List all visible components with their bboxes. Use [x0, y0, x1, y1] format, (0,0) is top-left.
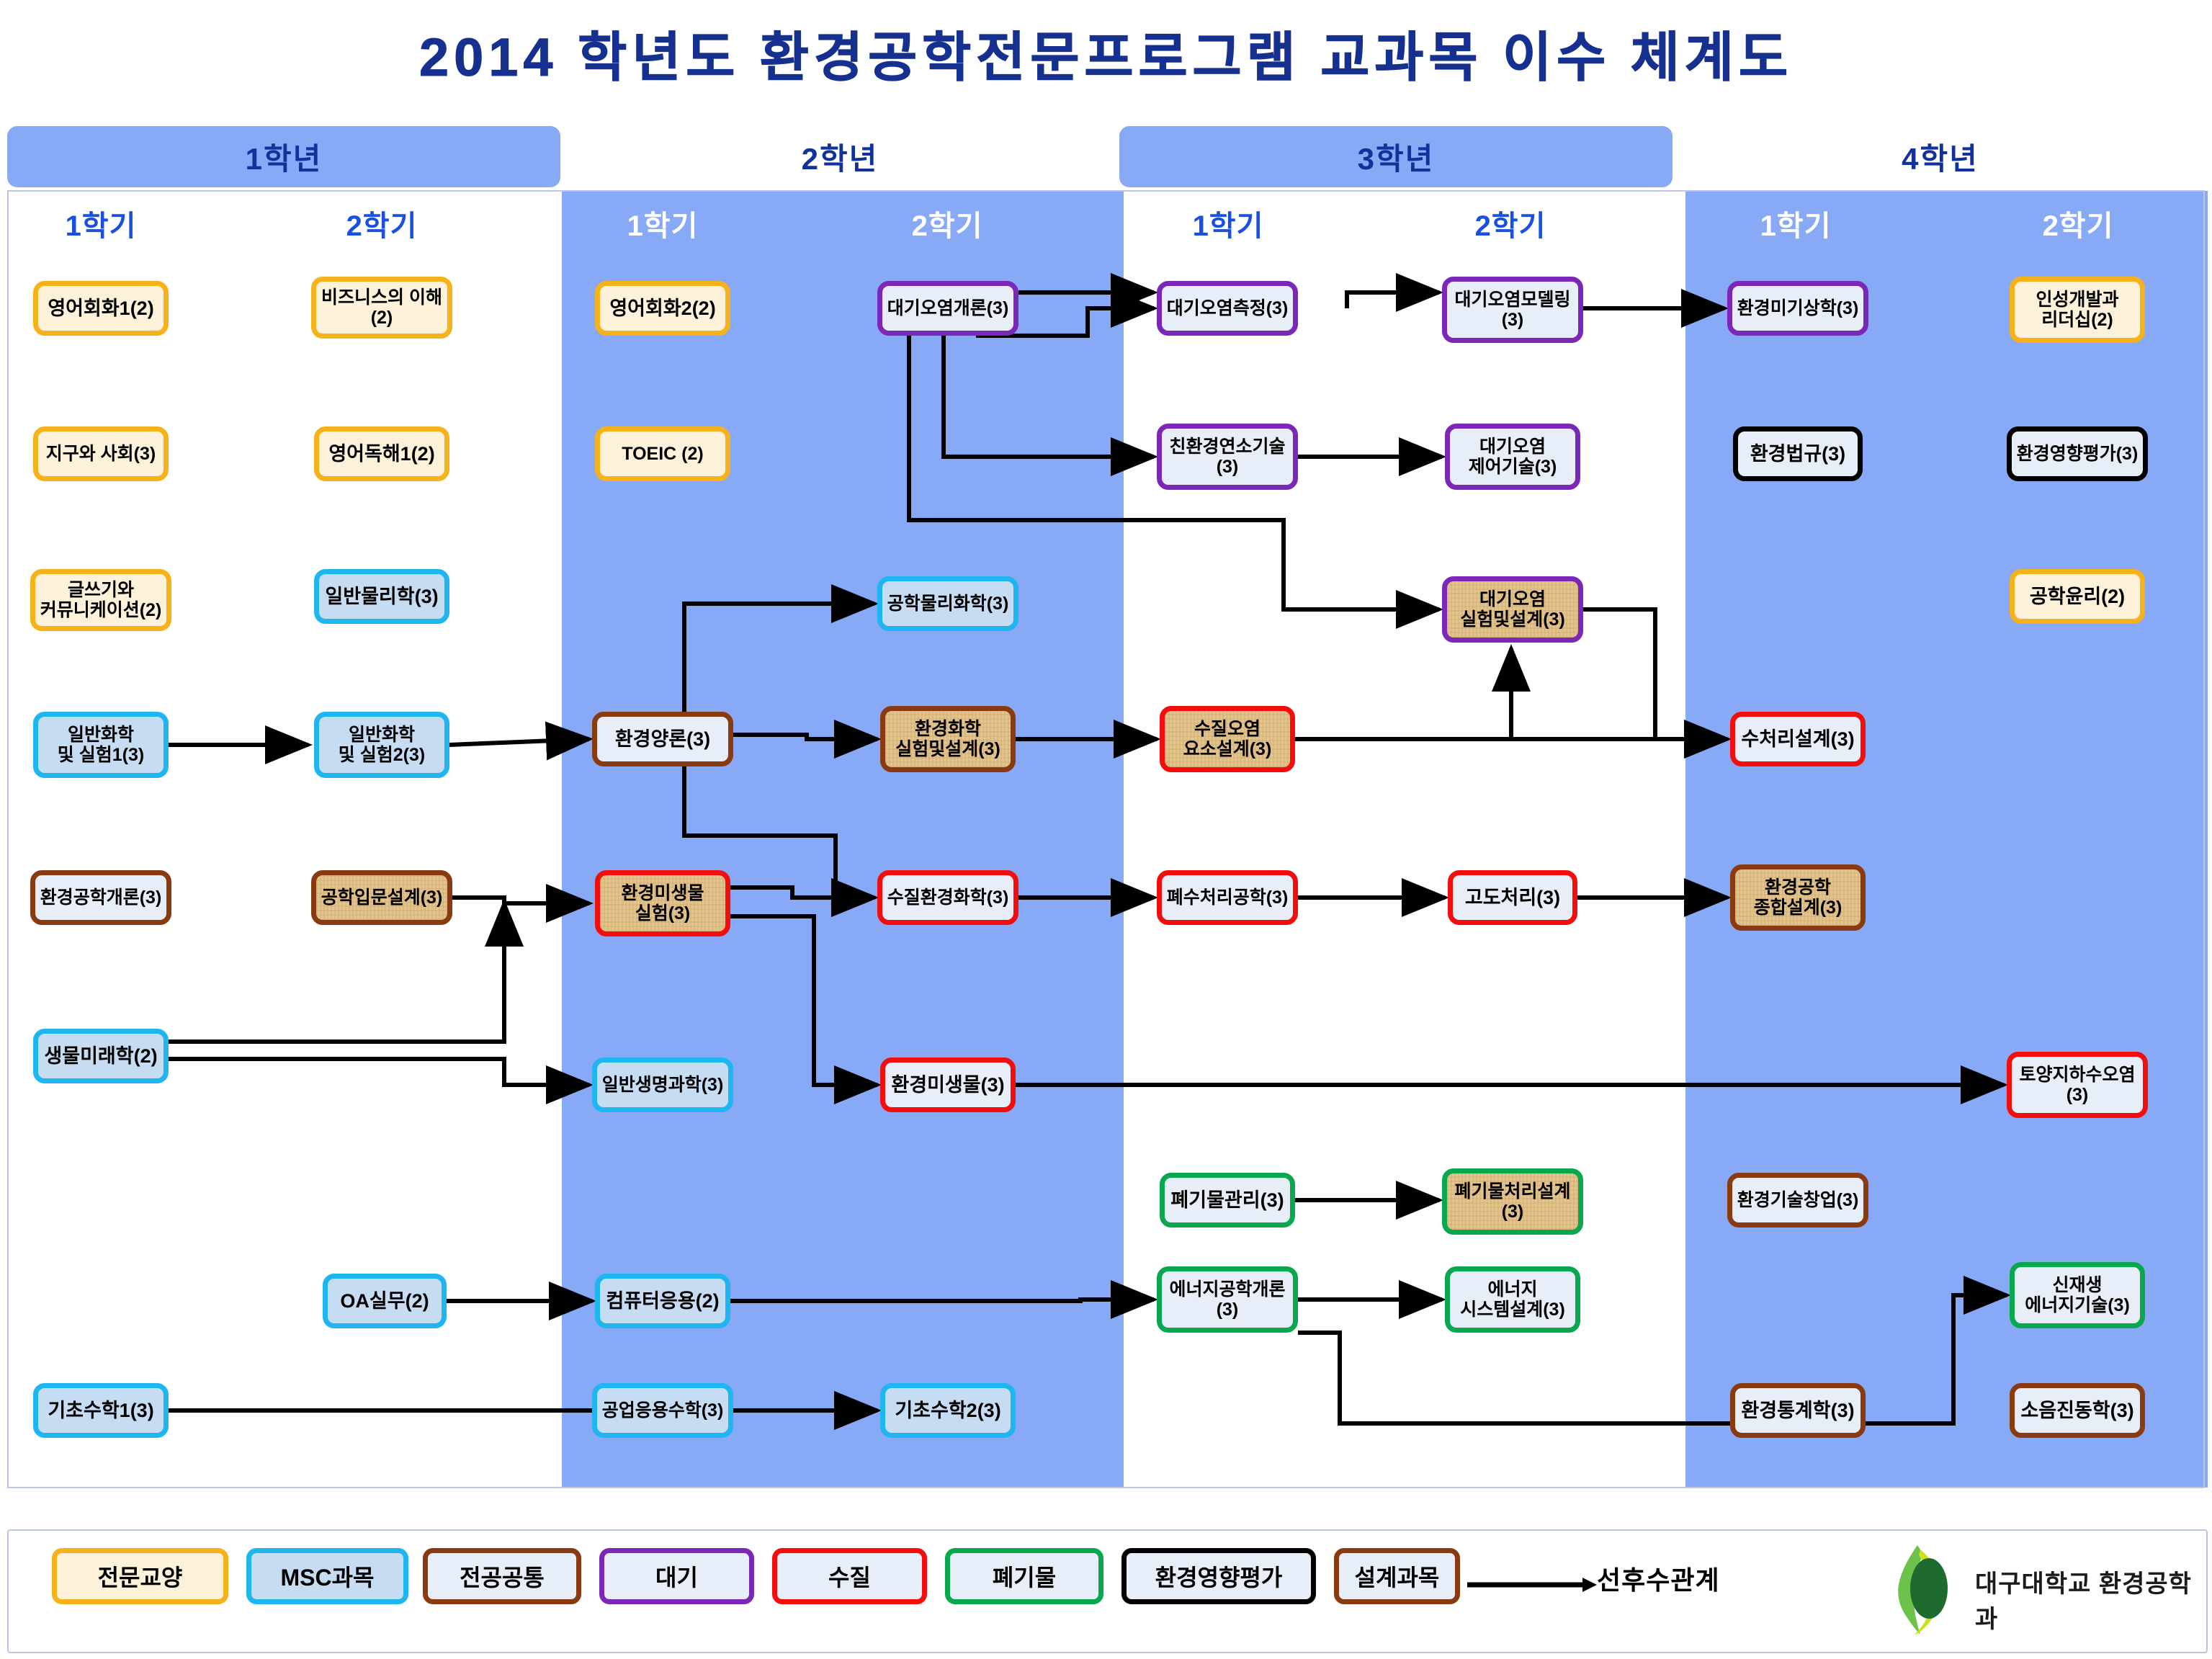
course-box[interactable]: 수처리설계(3) [1730, 712, 1866, 766]
course-box[interactable]: 인성개발과 리더십(2) [2010, 277, 2145, 343]
course-box[interactable]: 폐기물처리설계 (3) [1442, 1168, 1583, 1235]
course-box[interactable]: 수질환경화학(3) [877, 870, 1018, 925]
course-box[interactable]: 에너지공학개론 (3) [1157, 1266, 1298, 1333]
course-box[interactable]: 일반물리학(3) [314, 569, 449, 624]
course-box[interactable]: 폐기물관리(3) [1160, 1173, 1295, 1228]
course-box[interactable]: 에너지 시스템설계(3) [1445, 1266, 1580, 1333]
divider-top [7, 190, 2205, 192]
course-box[interactable]: TOEIC (2) [595, 426, 730, 481]
semester-header-6: 2학기 [1392, 202, 1629, 245]
legend-item: 전공공통 [423, 1548, 581, 1604]
year-header-4: 4학년 [1675, 126, 2205, 187]
legend-item: 설계과목 [1334, 1548, 1460, 1604]
legend-item: 전문교양 [52, 1548, 228, 1604]
course-box[interactable]: 영어독해1(2) [314, 426, 449, 481]
course-box[interactable]: 글쓰기와 커뮤니케이션(2) [30, 569, 171, 631]
semester-label-1: 1학기 [66, 202, 137, 244]
semester-label-4: 2학기 [912, 202, 983, 244]
page-title: 2014 학년도 환경공학전문프로그램 교과목 이수 체계도 [0, 14, 2212, 91]
course-box[interactable]: 환경영향평가(3) [2007, 426, 2148, 481]
semester-header-8: 2학기 [1959, 202, 2197, 245]
divider-right [2203, 190, 2205, 1487]
semester-header-2: 2학기 [263, 202, 501, 245]
course-box[interactable]: 대기오염모델링 (3) [1442, 277, 1583, 343]
year-header-band: 1학년 2학년 3학년 4학년 [7, 126, 2205, 187]
course-box[interactable]: 공업응용수학(3) [592, 1383, 733, 1438]
semester-label-3: 1학기 [627, 202, 699, 244]
semester-label-7: 1학기 [1760, 202, 1832, 244]
course-box[interactable]: 공학입문설계(3) [311, 870, 452, 925]
course-box[interactable]: 수질오염 요소설계(3) [1160, 706, 1295, 772]
year-label-4: 4학년 [1902, 135, 1979, 179]
year-label-3: 3학년 [1358, 135, 1435, 179]
course-box[interactable]: 일반화학 및 실험1(3) [33, 712, 169, 778]
department-label: 대구대학교 환경공학과 [1975, 1564, 2206, 1635]
semester-header-5: 1학기 [1109, 202, 1347, 245]
course-box[interactable]: 대기오염측정(3) [1157, 281, 1298, 336]
course-box[interactable]: 영어회화1(2) [33, 281, 169, 336]
legend-item: 폐기물 [945, 1548, 1103, 1604]
year-header-2: 2학년 [563, 126, 1116, 187]
legend-arrow-icon [1467, 1574, 1597, 1596]
course-box[interactable]: 환경공학개론(3) [30, 870, 171, 925]
course-box[interactable]: 일반생명과학(3) [592, 1057, 733, 1112]
course-box[interactable]: 영어회화2(2) [595, 281, 730, 336]
semester-header-3: 1학기 [544, 202, 782, 245]
course-box[interactable]: 환경공학 종합설계(3) [1730, 864, 1866, 931]
legend-item: MSC과목 [246, 1548, 408, 1604]
course-box[interactable]: 대기오염 실험및설계(3) [1442, 576, 1583, 643]
semester-label-6: 2학기 [1475, 202, 1546, 244]
course-box[interactable]: 대기오염 제어기술(3) [1445, 424, 1580, 490]
course-box[interactable]: 친환경연소기술 (3) [1157, 424, 1298, 490]
course-box[interactable]: 대기오염개론(3) [877, 281, 1018, 336]
year-header-3: 3학년 [1119, 126, 1673, 187]
semester-label-8: 2학기 [2043, 202, 2114, 244]
legend-arrow-label: 선후수관계 [1597, 1560, 1720, 1597]
semester-header-7: 1학기 [1677, 202, 1915, 245]
course-box[interactable]: 환경미생물(3) [880, 1057, 1016, 1112]
course-box[interactable]: 일반화학 및 실험2(3) [314, 712, 449, 778]
semester-header-1: 1학기 [0, 202, 220, 245]
year-header-1: 1학년 [7, 126, 560, 187]
course-box[interactable]: 환경미기상학(3) [1727, 281, 1868, 336]
divider-left [7, 190, 9, 1487]
course-box[interactable]: 토양지하수오염 (3) [2007, 1052, 2148, 1118]
semester-label-5: 1학기 [1193, 202, 1264, 244]
course-box[interactable]: 환경미생물 실험(3) [595, 870, 730, 936]
semester-header-4: 2학기 [828, 202, 1066, 245]
semester-label-2: 2학기 [346, 202, 418, 244]
course-box[interactable]: 기초수학1(3) [33, 1383, 169, 1438]
course-box[interactable]: 공학물리화학(3) [877, 576, 1018, 631]
course-box[interactable]: 환경양론(3) [592, 712, 733, 766]
course-box[interactable]: 기초수학2(3) [880, 1383, 1016, 1438]
legend-item: 환경영향평가 [1121, 1548, 1316, 1604]
course-box[interactable]: 환경통계학(3) [1730, 1383, 1866, 1438]
course-box[interactable]: 생물미래학(2) [33, 1029, 169, 1083]
course-box[interactable]: 환경화학 실험및설계(3) [880, 706, 1016, 772]
legend-item: 대기 [599, 1548, 754, 1604]
course-box[interactable]: 컴퓨터응용(2) [595, 1274, 730, 1328]
course-box[interactable]: 지구와 사회(3) [33, 426, 169, 481]
course-box[interactable]: 환경법규(3) [1733, 426, 1863, 481]
course-box[interactable]: 환경기술창업(3) [1727, 1173, 1868, 1228]
course-box[interactable]: 소음진동학(3) [2010, 1383, 2145, 1438]
year-label-1: 1학년 [246, 135, 323, 179]
year-label-2: 2학년 [802, 135, 879, 179]
course-box[interactable]: 공학윤리(2) [2010, 569, 2145, 624]
course-box[interactable]: 신재생 에너지기술(3) [2010, 1262, 2145, 1328]
course-box[interactable]: 폐수처리공학(3) [1157, 870, 1298, 925]
course-box[interactable]: 고도처리(3) [1448, 870, 1577, 925]
university-logo-icon [1874, 1542, 1968, 1636]
legend-item: 수질 [772, 1548, 927, 1604]
course-box[interactable]: 비즈니스의 이해 (2) [311, 277, 452, 339]
course-box[interactable]: OA실무(2) [323, 1274, 447, 1328]
divider-bottom [7, 1487, 2205, 1488]
legend: 전문교양MSC과목전공공통대기수질폐기물환경영향평가설계과목 선후수관계 대구대… [7, 1529, 2208, 1653]
